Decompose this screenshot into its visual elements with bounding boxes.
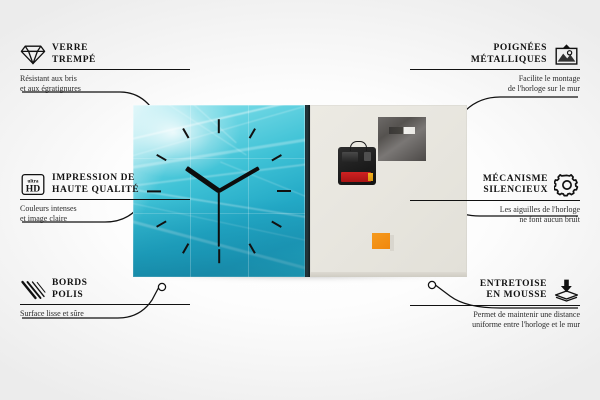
feature-desc-line2: de l'horloge sur le mur [410, 84, 580, 94]
feature-title-line2: HAUTE QUALITÉ [52, 185, 139, 197]
feature-desc-line2: ne font aucun bruit [410, 215, 580, 225]
feature-title: IMPRESSION DE HAUTE QUALITÉ [52, 173, 139, 196]
feature-title-line1: BORDS [52, 278, 87, 290]
clock-tick [271, 154, 281, 161]
feature-header: VERRE TREMPÉ [20, 43, 190, 66]
polished-edges-icon [20, 279, 46, 301]
feature-title: POIGNÉES MÉTALLIQUES [471, 43, 547, 66]
foam-spacer-part [372, 233, 390, 249]
feature-description: Résistant aux bris et aux égratignures [20, 74, 190, 94]
feature-header: MÉCANISME SILENCIEUX [410, 173, 580, 197]
feature-rule [410, 305, 580, 306]
clock-tick [182, 128, 189, 138]
hanger-slot [389, 127, 415, 134]
feature-title-line1: ENTRETOISE [480, 279, 547, 291]
foam-side [390, 235, 394, 251]
feature-title: VERRE TREMPÉ [52, 43, 96, 66]
mechanism-knob [364, 152, 371, 161]
clock-hour-hand [185, 166, 220, 193]
mechanism-loop [350, 141, 367, 151]
feature-entretoise-en-mousse: ENTRETOISE EN MOUSSE Permet de maintenir… [410, 278, 580, 330]
feature-desc-line2: uniforme entre l'horloge et le mur [410, 320, 580, 330]
battery-part [341, 172, 371, 182]
feature-impression-haute-qualite: ultra HD IMPRESSION DE HAUTE QUALITÉ Cou… [20, 173, 190, 224]
feature-desc-line1: Résistant aux bris [20, 74, 190, 84]
feature-desc-line1: Surface lisse et sûre [20, 309, 190, 319]
feature-title-line1: IMPRESSION DE [52, 173, 139, 185]
clock-tick [156, 154, 166, 161]
clock-tick [277, 190, 291, 192]
feature-rule [410, 200, 580, 201]
feature-title: MÉCANISME SILENCIEUX [483, 174, 548, 197]
clock-tick [182, 243, 189, 253]
feature-desc-line1: Les aiguilles de l'horloge [410, 205, 580, 215]
clock-tick [218, 119, 220, 133]
feature-desc-line2: et image claire [20, 214, 190, 224]
clock-tick [218, 249, 220, 263]
back-panel-bottom [310, 272, 467, 277]
feature-header: ultra HD IMPRESSION DE HAUTE QUALITÉ [20, 173, 190, 196]
feature-title-line2: MÉTALLIQUES [471, 55, 547, 67]
feature-title: ENTRETOISE EN MOUSSE [480, 279, 547, 302]
ultra-hd-badge-icon: ultra HD [20, 173, 46, 196]
feature-title-line2: TREMPÉ [52, 55, 96, 67]
clock-second-hand [218, 191, 220, 247]
feature-title: BORDS POLIS [52, 278, 87, 301]
metal-hanger-part [378, 117, 426, 161]
press-down-layers-icon [553, 278, 580, 302]
feature-rule [20, 304, 190, 305]
feature-description: Les aiguilles de l'horloge ne font aucun… [410, 205, 580, 225]
badge-large-text: HD [26, 183, 40, 194]
feature-desc-line1: Couleurs intenses [20, 204, 190, 214]
clock-mechanism-part [338, 147, 376, 185]
feature-title-line1: VERRE [52, 43, 96, 55]
feature-poignees-metalliques: POIGNÉES MÉTALLIQUES Facilite le montage… [410, 43, 580, 94]
feature-bords-polis: BORDS POLIS Surface lisse et sûre [20, 278, 190, 319]
picture-frame-hanger-icon [553, 43, 580, 66]
feature-description: Surface lisse et sûre [20, 309, 190, 319]
feature-rule [20, 69, 190, 70]
feature-title-line2: SILENCIEUX [483, 185, 548, 197]
connector-poignees [455, 97, 578, 122]
feature-description: Couleurs intenses et image claire [20, 204, 190, 224]
feature-mecanisme-silencieux: MÉCANISME SILENCIEUX Les aiguilles de l'… [410, 173, 580, 225]
diamond-icon [20, 44, 46, 66]
clock-tick [249, 243, 256, 253]
feature-rule [410, 69, 580, 70]
feature-description: Facilite le montage de l'horloge sur le … [410, 74, 580, 94]
feature-header: BORDS POLIS [20, 278, 190, 301]
feature-desc-line1: Permet de maintenir une distance [410, 310, 580, 320]
clock-minute-hand [218, 166, 260, 192]
feature-header: ENTRETOISE EN MOUSSE [410, 278, 580, 302]
infographic-canvas: VERRE TREMPÉ Résistant aux bris et aux é… [0, 0, 600, 400]
feature-desc-line2: et aux égratignures [20, 84, 190, 94]
feature-verre-trempe: VERRE TREMPÉ Résistant aux bris et aux é… [20, 43, 190, 94]
gear-icon [554, 173, 580, 197]
feature-rule [20, 199, 190, 200]
feature-header: POIGNÉES MÉTALLIQUES [410, 43, 580, 66]
feature-desc-line1: Facilite le montage [410, 74, 580, 84]
feature-title-line1: MÉCANISME [483, 174, 548, 186]
feature-title-line2: POLIS [52, 290, 87, 302]
clock-tick [271, 221, 281, 228]
clock-tick [249, 128, 256, 138]
feature-description: Permet de maintenir une distance uniform… [410, 310, 580, 330]
feature-title-line2: EN MOUSSE [480, 290, 547, 302]
feature-title-line1: POIGNÉES [471, 43, 547, 55]
mechanism-dial [342, 152, 358, 162]
